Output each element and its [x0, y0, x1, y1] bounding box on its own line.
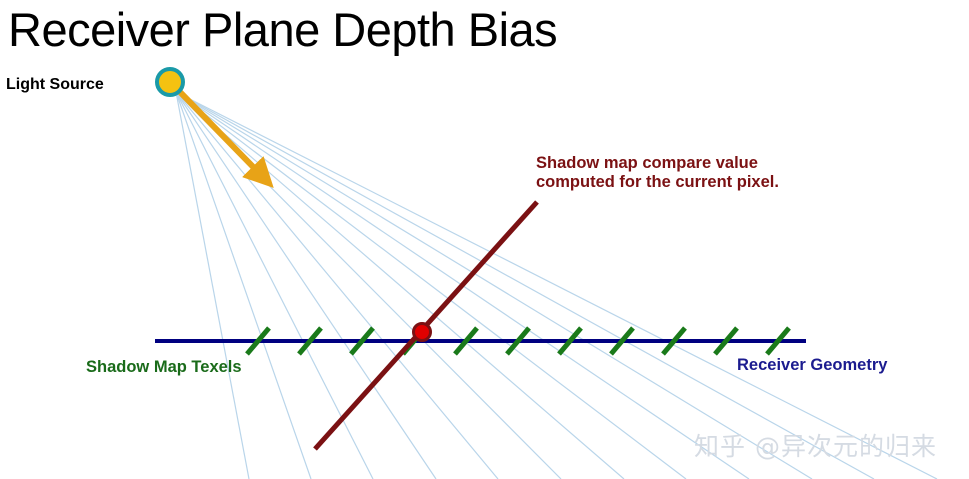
receiver-geometry-label: Receiver Geometry [737, 356, 887, 375]
shadow-map-texels-label: Shadow Map Texels [86, 358, 242, 377]
sample-point-marker [414, 324, 431, 341]
compare-value-annotation: Shadow map compare value computed for th… [536, 154, 779, 193]
light-source-label: Light Source [6, 76, 104, 95]
light-ray-group [176, 92, 937, 479]
compare-value-annotation-line-1: Shadow map compare value [536, 154, 779, 173]
light-ray [176, 92, 686, 479]
light-ray [176, 92, 436, 479]
diagram-canvas: Receiver Plane Depth Bias Light Source S… [0, 0, 969, 479]
light-source-icon [157, 69, 183, 95]
zhihu-watermark: 知乎 @异次元的归来 [694, 427, 937, 463]
shadow-bias-diagram [0, 0, 969, 479]
compare-value-annotation-line-2: computed for the current pixel. [536, 173, 779, 192]
light-direction-arrow [180, 92, 262, 176]
light-ray [176, 92, 874, 479]
page-title: Receiver Plane Depth Bias [8, 2, 557, 57]
light-ray [176, 92, 812, 479]
